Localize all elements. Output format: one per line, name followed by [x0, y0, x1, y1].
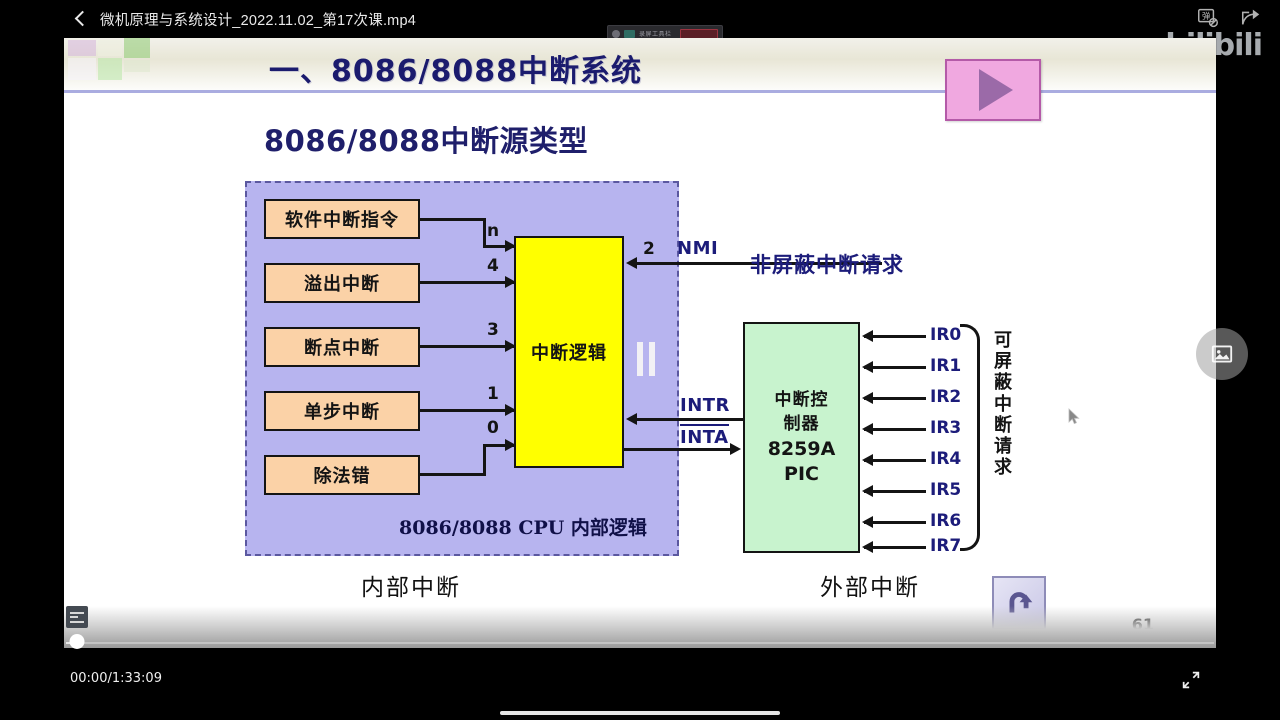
- interrupt-system-diagram: 8086/8088 CPU 内部逻辑 软件中断指令 溢出中断 断点中断 单步中断…: [64, 38, 1216, 606]
- video-stage[interactable]: 一、8086/8088中断系统 8086/8088中断源类型 8086/8088…: [64, 38, 1216, 648]
- time-display: 00:00/1:33:09: [70, 671, 162, 686]
- wire-software-2: [483, 218, 486, 248]
- vector-number-2: 2: [643, 239, 655, 259]
- interrupt-logic-box: 中断逻辑: [514, 236, 624, 468]
- play-triangle-icon: [979, 69, 1013, 111]
- home-indicator: [500, 711, 780, 715]
- text-cursor-bar-1: [637, 342, 643, 376]
- playlist-line-3: [70, 621, 84, 623]
- signal-label-inta: INTA: [680, 424, 729, 448]
- vector-number-0: 0: [487, 418, 499, 438]
- text-cursor-bar-2: [649, 342, 655, 376]
- ir-label-5: IR5: [930, 480, 961, 500]
- ir-label-7: IR7: [930, 536, 961, 556]
- pic-8259a-box: 中断控 制器 8259A PIC: [743, 322, 860, 553]
- fullscreen-button[interactable]: [1180, 669, 1202, 691]
- mouse-cursor: [1068, 408, 1080, 426]
- capture-record-dot: [612, 30, 620, 38]
- presentation-slide: 一、8086/8088中断系统 8086/8088中断源类型 8086/8088…: [64, 38, 1216, 606]
- ir-label-2: IR2: [930, 387, 961, 407]
- ir-label-1: IR1: [930, 356, 961, 376]
- playlist-line-1: [70, 612, 84, 614]
- screenshot-image-icon: [1209, 341, 1235, 367]
- nmi-description: 非屏蔽中断请求: [750, 249, 904, 279]
- ir-label-0: IR0: [930, 325, 961, 345]
- pic-line-3: 8259A: [768, 438, 836, 460]
- wire-overflow: [420, 281, 516, 284]
- progress-handle[interactable]: [70, 634, 85, 649]
- fullscreen-expand-icon: [1180, 669, 1202, 691]
- svg-text:弹: 弹: [1202, 11, 1210, 21]
- external-interrupt-label: 外部中断: [820, 568, 920, 602]
- ir-label-6: IR6: [930, 511, 961, 531]
- pic-line-1: 中断控: [775, 390, 829, 411]
- vector-number-4: 4: [487, 256, 499, 276]
- source-box-breakpoint-interrupt: 断点中断: [264, 327, 420, 367]
- capture-camera-icon: [624, 30, 635, 38]
- wire-software-1: [420, 218, 486, 221]
- danmaku-off-icon[interactable]: 弹: [1196, 6, 1218, 28]
- pic-line-2: 制器: [784, 414, 820, 435]
- internal-interrupt-label: 内部中断: [361, 568, 461, 602]
- ir-label-3: IR3: [930, 418, 961, 438]
- ir-label-4: IR4: [930, 449, 961, 469]
- signal-label-intr: INTR: [680, 395, 730, 416]
- playlist-button[interactable]: [66, 606, 88, 628]
- arrow-intr: [626, 413, 637, 425]
- capture-label: 录屏工具栏: [639, 29, 672, 38]
- source-box-software-interrupt: 软件中断指令: [264, 199, 420, 239]
- top-right-icon-group: 弹: [1196, 6, 1262, 28]
- share-icon[interactable]: [1240, 6, 1262, 28]
- wire-inta: [624, 448, 734, 451]
- vector-number-n: n: [487, 221, 499, 241]
- vector-number-1: 1: [487, 384, 499, 404]
- cpu-caption: 8086/8088 CPU 内部逻辑: [399, 513, 679, 540]
- video-title: 微机原理与系统设计_2022.11.02_第17次课.mp4: [100, 9, 416, 30]
- wire-single-step: [420, 409, 516, 412]
- wire-divide-1: [420, 473, 486, 476]
- vector-number-3: 3: [487, 320, 499, 340]
- arrow-inta: [730, 443, 741, 455]
- maskable-brace: [960, 324, 980, 551]
- pic-line-4: PIC: [784, 463, 819, 485]
- source-box-overflow-interrupt: 溢出中断: [264, 263, 420, 303]
- capture-stop-button[interactable]: [680, 29, 718, 39]
- source-box-divide-error: 除法错: [264, 455, 420, 495]
- progress-bar[interactable]: [66, 640, 1214, 646]
- playlist-line-2: [70, 616, 78, 618]
- arrow-nmi: [626, 257, 637, 269]
- maskable-interrupt-label: 可屏蔽中断请求: [990, 330, 1016, 479]
- wire-divide-2: [483, 444, 486, 476]
- signal-label-nmi: NMI: [677, 238, 718, 259]
- progress-track: [66, 642, 1214, 644]
- wire-breakpoint: [420, 345, 516, 348]
- back-button[interactable]: [74, 9, 88, 29]
- source-box-single-step-interrupt: 单步中断: [264, 391, 420, 431]
- slide-play-button[interactable]: [945, 59, 1041, 121]
- wire-intr: [636, 418, 746, 421]
- screenshot-button[interactable]: [1196, 328, 1248, 380]
- video-player-page: 微机原理与系统设计_2022.11.02_第17次课.mp4 弹 录屏工具栏 C: [0, 0, 1280, 720]
